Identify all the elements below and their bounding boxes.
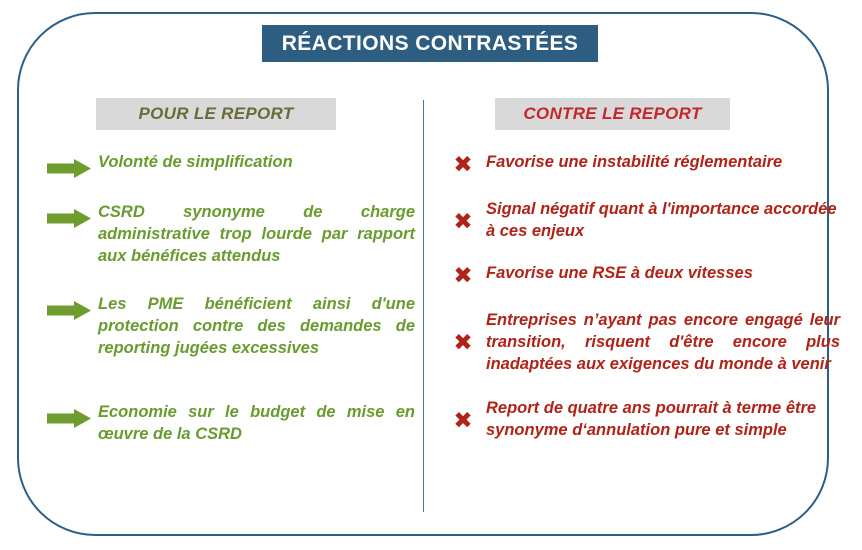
arrow-right-icon: [47, 409, 91, 428]
bullet-cell: ✖: [440, 310, 486, 355]
bullet-cell: [40, 402, 98, 428]
bullet-cell: ✖: [440, 263, 486, 288]
cross-mark-icon: ✖: [453, 211, 472, 234]
list-item: ✖ Favorise une RSE à deux vitesses: [440, 263, 840, 288]
con-item-text: Entreprises n’ayant pas encore engagé le…: [486, 310, 840, 376]
con-column-header: CONTRE LE REPORT: [495, 98, 730, 130]
con-item-text: Signal négatif quant à l'importance acco…: [486, 199, 840, 243]
bullet-cell: ✖: [440, 199, 486, 234]
cross-mark-icon: ✖: [453, 332, 472, 355]
arrow-right-icon: [47, 301, 91, 320]
bullet-cell: ✖: [440, 152, 486, 177]
con-column: CONTRE LE REPORT ✖ Favorise une instabil…: [440, 98, 840, 458]
list-item: ✖ Entreprises n’ayant pas encore engagé …: [440, 310, 840, 376]
con-item-text: Favorise une RSE à deux vitesses: [486, 263, 840, 285]
con-item-text: Favorise une instabilité réglementaire: [486, 152, 840, 174]
arrow-right-icon: [47, 209, 91, 228]
list-item: Economie sur le budget de mise en œuvre …: [40, 402, 415, 446]
list-item: ✖ Signal négatif quant à l'importance ac…: [440, 199, 840, 243]
pro-item-text: Economie sur le budget de mise en œuvre …: [98, 402, 415, 446]
pro-item-list: Volonté de simplification CSRD synonyme …: [40, 152, 415, 446]
bullet-cell: [40, 152, 98, 178]
cross-mark-icon: ✖: [453, 410, 472, 433]
title-banner: RÉACTIONS CONTRASTÉES: [262, 25, 598, 62]
cross-mark-icon: ✖: [453, 154, 472, 177]
pro-item-text: CSRD synonyme de charge administrative t…: [98, 202, 415, 268]
list-item: ✖ Report de quatre ans pourrait à terme …: [440, 398, 840, 442]
pro-item-text: Les PME bénéficient ainsi d'une protecti…: [98, 294, 415, 360]
con-column-header-label: CONTRE LE REPORT: [523, 104, 701, 124]
pro-column-header: POUR LE REPORT: [96, 98, 336, 130]
arrow-right-icon: [47, 159, 91, 178]
bullet-cell: [40, 202, 98, 228]
pro-column: POUR LE REPORT Volonté de simplification: [40, 98, 415, 462]
cross-mark-icon: ✖: [453, 265, 472, 288]
list-item: Volonté de simplification: [40, 152, 415, 178]
list-item: CSRD synonyme de charge administrative t…: [40, 202, 415, 268]
list-item: ✖ Favorise une instabilité réglementaire: [440, 152, 840, 177]
slide-canvas: RÉACTIONS CONTRASTÉES POUR LE REPORT Vol…: [0, 0, 862, 550]
con-item-list: ✖ Favorise une instabilité réglementaire…: [440, 152, 840, 442]
pro-column-header-label: POUR LE REPORT: [138, 104, 293, 124]
bullet-cell: ✖: [440, 398, 486, 433]
con-item-text: Report de quatre ans pourrait à terme êt…: [486, 398, 840, 442]
list-item: Les PME bénéficient ainsi d'une protecti…: [40, 294, 415, 360]
page-title: RÉACTIONS CONTRASTÉES: [282, 32, 579, 56]
column-divider: [423, 100, 424, 512]
bullet-cell: [40, 294, 98, 320]
pro-item-text: Volonté de simplification: [98, 152, 415, 174]
